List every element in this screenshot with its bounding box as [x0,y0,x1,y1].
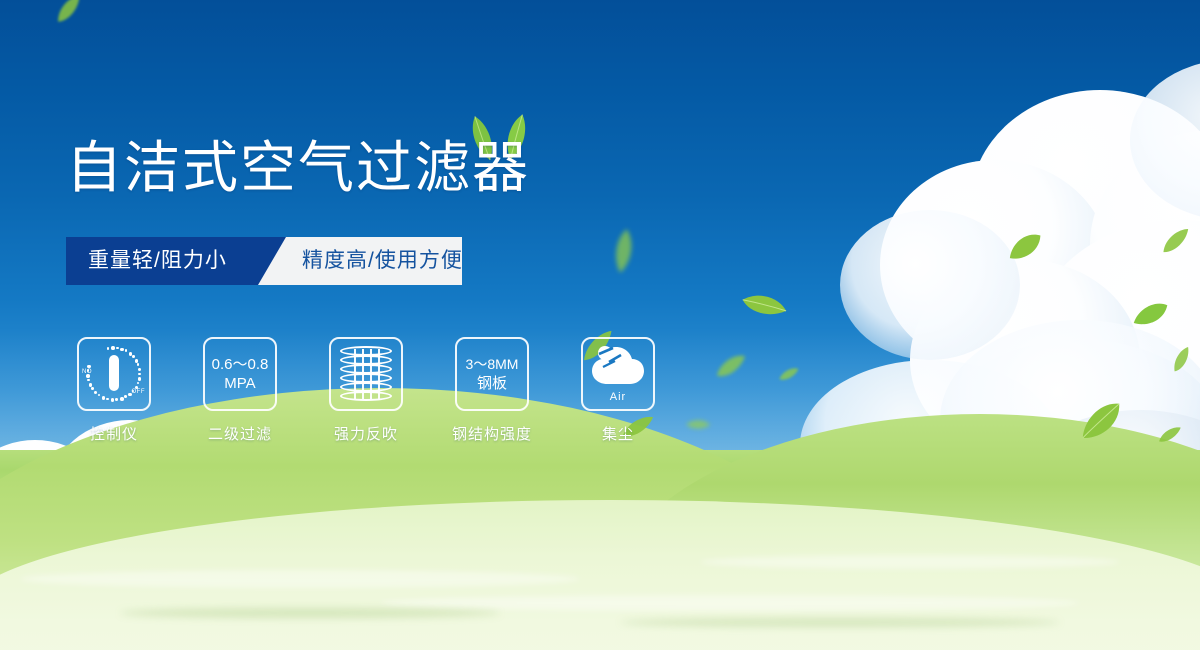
gauge-tick [137,363,140,366]
gauge-tick [94,391,98,395]
gauge-tick [87,365,91,369]
feature-label: 二级过滤 [208,423,272,444]
gauge-tick [138,373,141,376]
subtitle-text-right: 精度高/使用方便 [302,237,463,285]
leaf-icon [777,367,800,382]
gauge-tick [128,393,132,397]
gauge-tick [116,347,119,350]
gauge-tick [120,348,124,352]
gauge-tick [125,349,128,352]
feature-icon-box: 0.6～0.8 MPA [203,337,277,411]
gauge-tick [98,394,101,397]
gauge-tick [120,397,124,401]
gauge-icon: NO OFF [83,345,145,403]
feature-label: 控制仪 [90,423,138,444]
feature-icon-text-line1: 0.6～0.8 [212,355,269,374]
gauge-tick [124,395,127,398]
page-title: 自洁式空气过滤器 [66,140,530,196]
gauge-tick [111,346,115,350]
gauge-needle [109,355,119,391]
feature-icon-text-line2: MPA [224,374,255,393]
feature-label: 强力反吹 [334,423,398,444]
feature-icon-box [329,337,403,411]
subtitle-text-left: 重量轻/阻力小 [88,237,227,285]
feature-label: 集尘 [602,423,634,444]
grass-field [0,450,1200,650]
feature-item-two-stage-filter[interactable]: 0.6～0.8 MPA 二级过滤 [202,337,278,444]
feature-item-dust-collection[interactable]: Air 集尘 [580,337,656,444]
gauge-tick [132,355,135,358]
gauge-tick [138,368,142,372]
filter-coil-icon [340,346,392,402]
gauge-tick [111,398,115,402]
gauge-tick [138,377,142,381]
cloud-icon-caption: Air [610,391,626,403]
gauge-tick [91,387,94,390]
gauge-tick [106,398,109,401]
feature-icon-box: 3～8MM 钢板 [455,337,529,411]
feature-icon-text-line2: 钢板 [477,374,507,393]
feature-icon-text-line1: 3～8MM [466,355,519,374]
feature-icon-box: NO OFF [77,337,151,411]
feature-label: 钢结构强度 [452,423,532,444]
gauge-tick [115,398,118,401]
gauge-tick [89,383,93,387]
feature-item-blowback[interactable]: 强力反吹 [328,337,404,444]
gauge-tick [137,382,140,385]
gauge-tick [107,347,110,350]
feature-item-control-gauge[interactable]: NO OFF 控制仪 [76,337,152,444]
cloud-icon [589,346,647,390]
gauge-tick [87,379,90,382]
gauge-tick [102,396,106,400]
gauge-tick [129,352,133,356]
feature-icon-box: Air [581,337,655,411]
feature-item-steel-strength[interactable]: 3～8MM 钢板 钢结构强度 [454,337,530,444]
gauge-tick [86,374,90,378]
product-banner: 自洁式空气过滤器 重量轻/阻力小 精度高/使用方便 NO OFF 控制仪 0.6… [0,0,1200,650]
gauge-tick [135,359,139,363]
feature-list: NO OFF 控制仪 0.6～0.8 MPA 二级过滤 [76,337,656,444]
subtitle-bar: 重量轻/阻力小 精度高/使用方便 [66,237,462,285]
